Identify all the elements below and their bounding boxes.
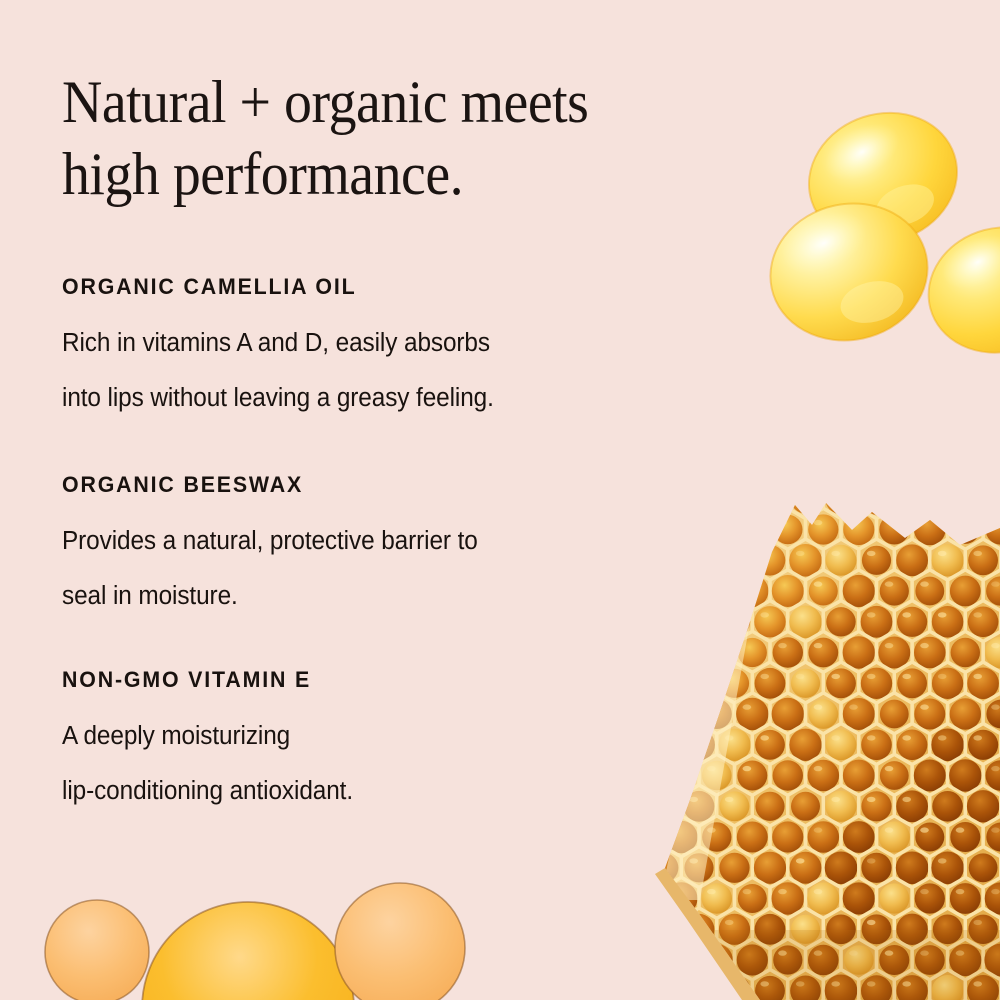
ingredient-title: ORGANIC BEESWAX [62, 470, 741, 500]
ingredient-block-vitamin-e: NON-GMO VITAMIN E A deeply moisturizing … [62, 665, 762, 819]
ingredient-block-beeswax: ORGANIC BEESWAX Provides a natural, prot… [62, 470, 762, 624]
ingredient-description: Provides a natural, protective barrier t… [62, 514, 731, 624]
ingredient-block-camellia-oil: ORGANIC CAMELLIA OIL Rich in vitamins A … [62, 272, 762, 426]
ingredient-title: NON-GMO VITAMIN E [62, 665, 741, 695]
ingredient-description: Rich in vitamins A and D, easily absorbs… [62, 316, 731, 426]
ingredient-title: ORGANIC CAMELLIA OIL [62, 272, 741, 302]
page-headline: Natural + organic meets high performance… [62, 66, 713, 210]
ingredient-description: A deeply moisturizing lip-conditioning a… [62, 709, 731, 819]
